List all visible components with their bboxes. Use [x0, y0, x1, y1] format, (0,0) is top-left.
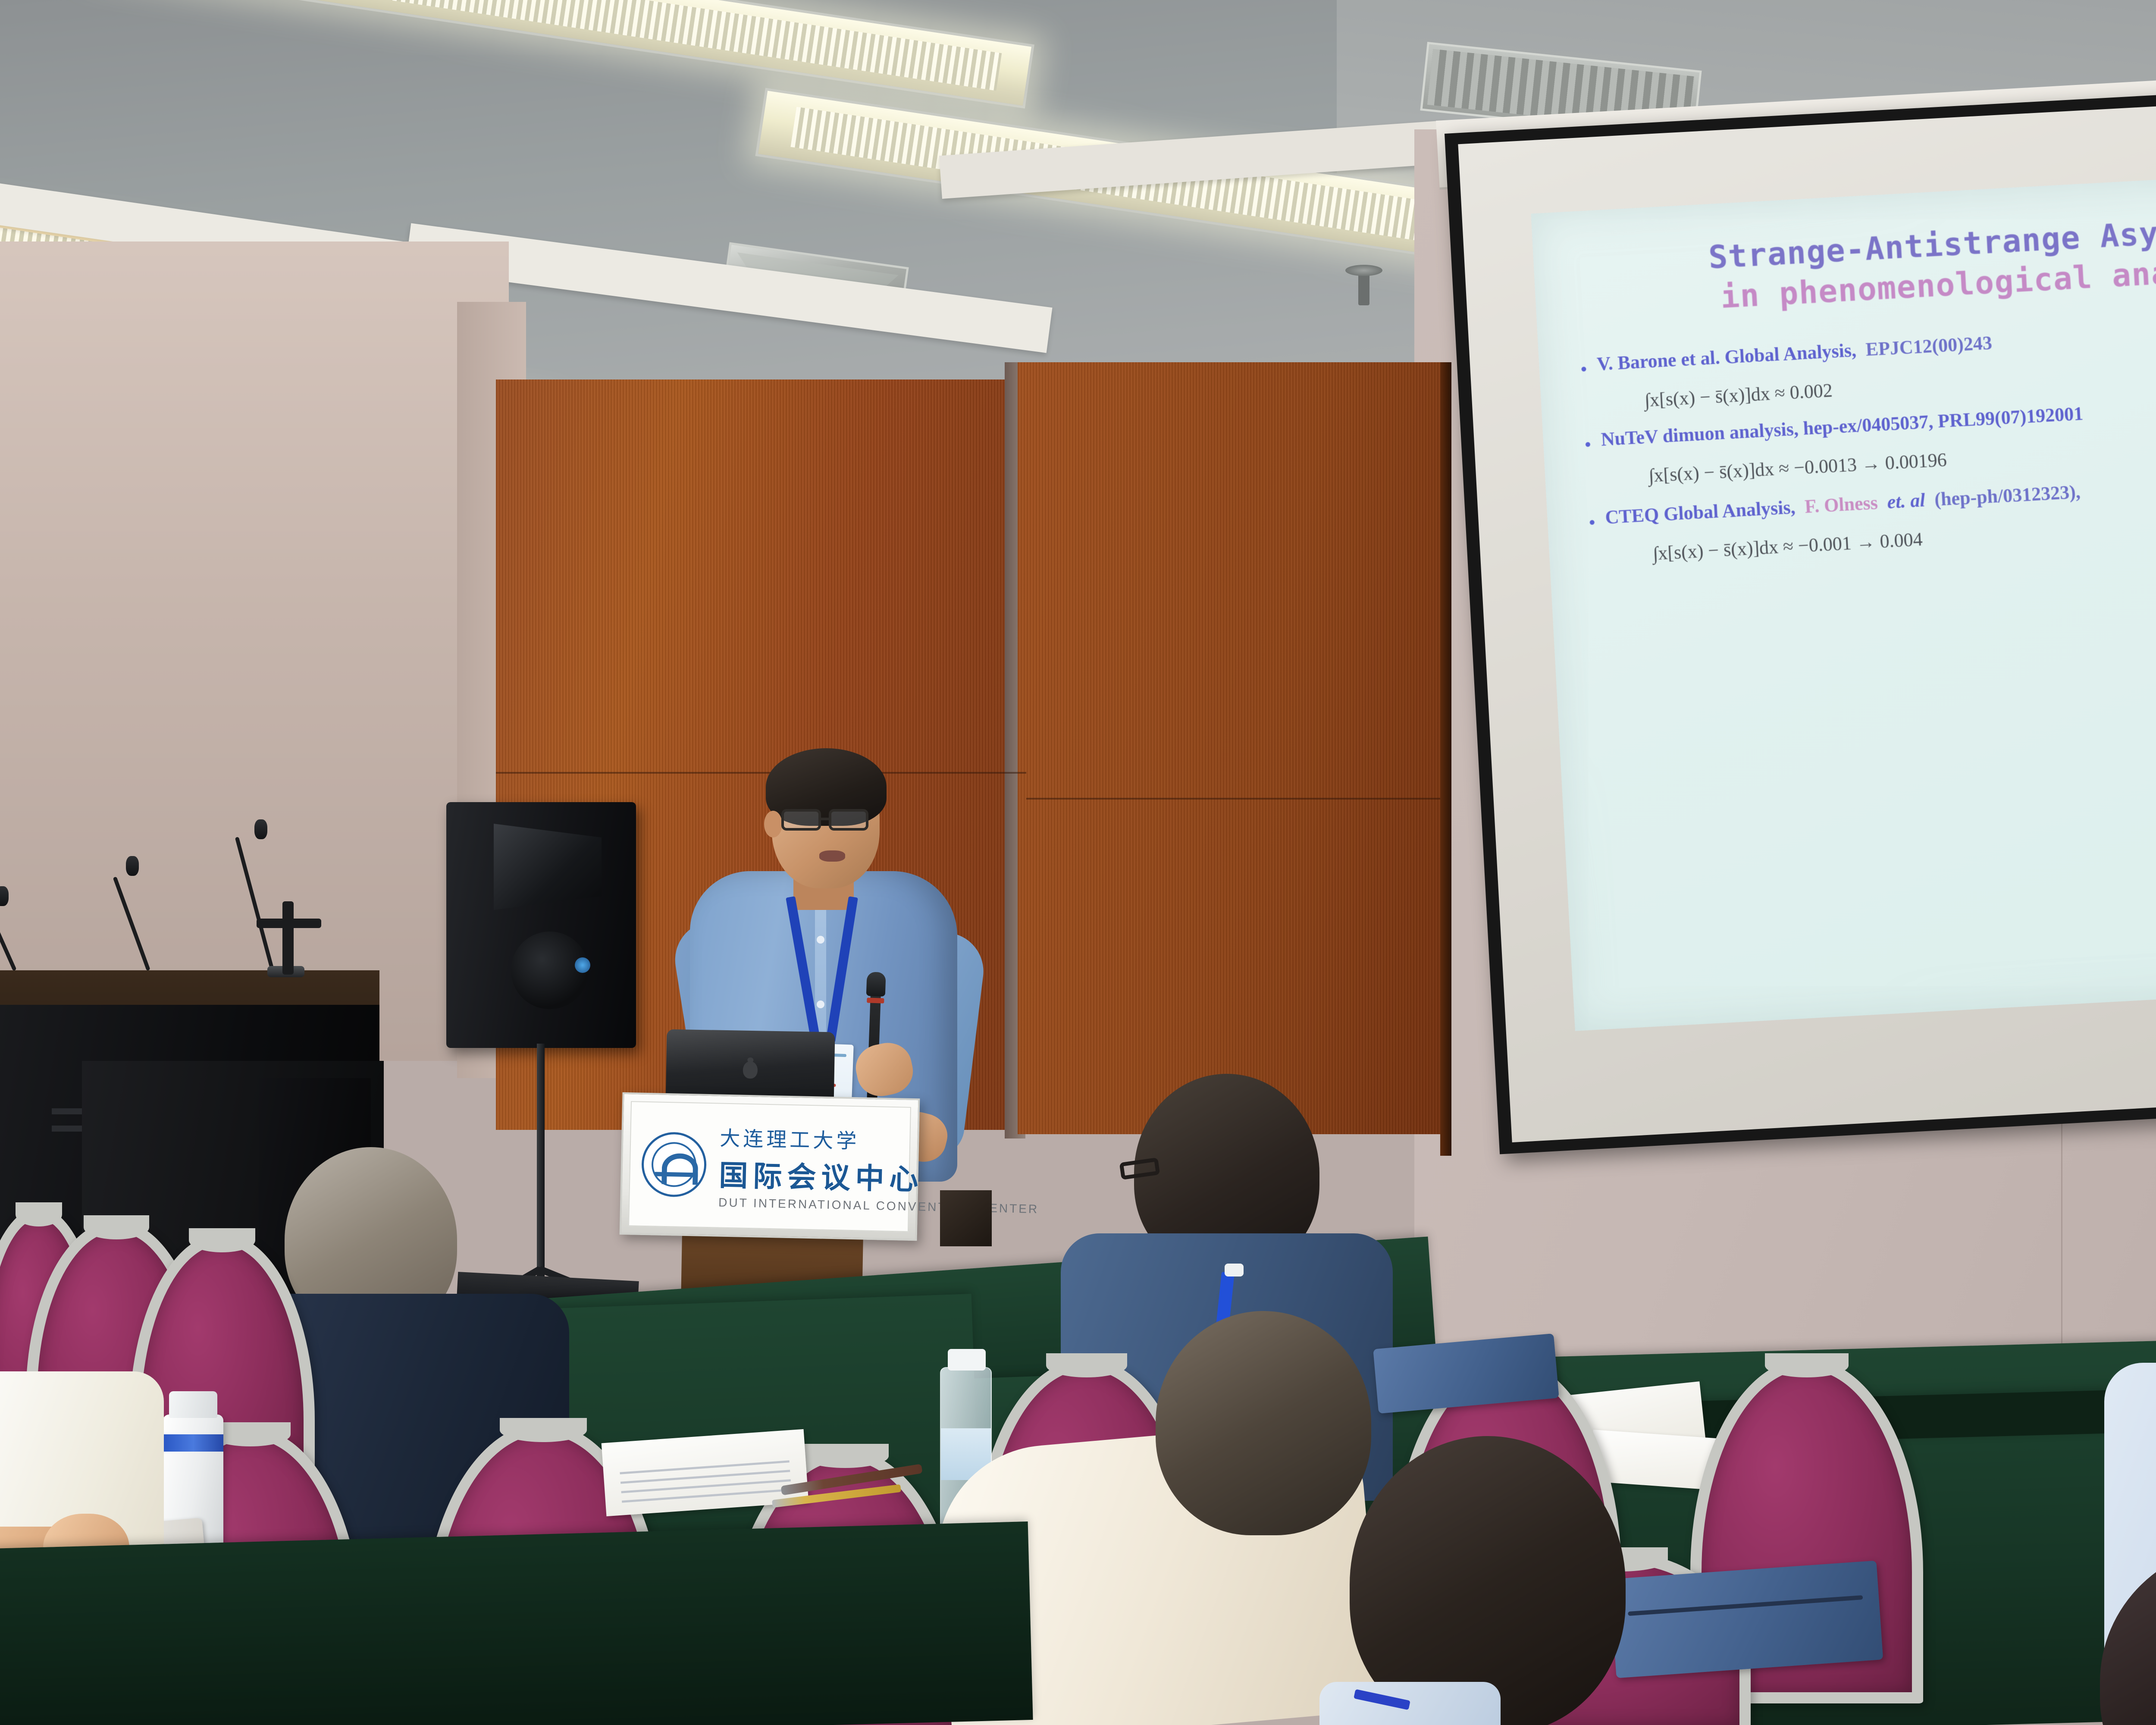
- shirt-button: [817, 1000, 824, 1008]
- bullet-marker-icon: •: [1589, 514, 1595, 531]
- speaker-tripod-pole: [537, 1044, 545, 1285]
- dut-seal-icon: [641, 1132, 707, 1198]
- presentation-slide: Strange-Antistrange Asymmetry in phenome…: [1531, 164, 2156, 1031]
- bullet-marker-icon: •: [1584, 436, 1591, 454]
- bottle-cap: [169, 1391, 217, 1418]
- attendee-shoulder: [1319, 1682, 1501, 1725]
- dut-seal-bar: [655, 1172, 696, 1177]
- slide-bullet-list: • V. Barone et al. Global Analysis, EPJC…: [1569, 308, 2156, 568]
- bullet-reference: EPJC12(00)243: [1865, 332, 1993, 360]
- microphone-capsule: [0, 886, 9, 906]
- eyeglasses-lens-left: [781, 809, 821, 831]
- wood-panel-seam: [1026, 798, 1449, 800]
- conference-room-photo: ✶Redleaf Strange-Antistrange Asymmetry i…: [0, 0, 2156, 1725]
- sprinkler-head-icon: [1358, 272, 1369, 305]
- podium-sign-face: 大连理工大学 国际会议中心 DUT INTERNATIONAL CONVENTI…: [628, 1101, 911, 1232]
- back-wall: [0, 241, 509, 1061]
- bag-zipper: [1628, 1595, 1863, 1616]
- blue-conference-bag: [1610, 1561, 1883, 1678]
- microphone-stand-arm: [257, 919, 321, 928]
- presenter-ear: [764, 811, 782, 837]
- microphone-capsule: [126, 856, 139, 876]
- bullet-author: F. Olness: [1804, 492, 1878, 517]
- badge-clip: [1225, 1264, 1244, 1276]
- attendee-head: [1156, 1311, 1371, 1535]
- podium-university-name: 大连理工大学: [720, 1122, 1040, 1158]
- bullet-text: V. Barone et al. Global Analysis, EPJC12…: [1596, 332, 1993, 376]
- microphone-stand-post: [282, 901, 294, 975]
- bullet-marker-icon: •: [1580, 361, 1587, 378]
- podium-sign-text: 大连理工大学 国际会议中心 DUT INTERNATIONAL CONVENTI…: [718, 1122, 1040, 1217]
- wood-panel-seam: [496, 772, 1026, 774]
- picture-frame-on-table: [940, 1190, 992, 1246]
- eyeglasses-bridge: [819, 818, 830, 820]
- bullet-reference: (hep-ph/0312323),: [1934, 481, 2081, 510]
- bottle-cap: [948, 1349, 986, 1371]
- screen-surface: Strange-Antistrange Asymmetry in phenome…: [1458, 87, 2156, 1142]
- wood-wall-panel: [1018, 362, 1449, 1134]
- foreground-table: [0, 1521, 1033, 1725]
- projection-screen: Strange-Antistrange Asymmetry in phenome…: [1445, 75, 2156, 1154]
- speaker-power-led-icon: [575, 957, 590, 973]
- slide-title: Strange-Antistrange Asymmetry in phenome…: [1563, 199, 2156, 326]
- pa-speaker: [446, 802, 636, 1048]
- wood-panel-edge: [1440, 362, 1451, 1156]
- shirt-button: [817, 936, 824, 944]
- bullet-lead-text: V. Barone et al. Global Analysis,: [1596, 339, 1857, 374]
- bullet-text: CTEQ Global Analysis, F. Olness et. al (…: [1604, 480, 2081, 529]
- apple-logo-icon: [743, 1061, 758, 1079]
- eyeglasses-lens-right: [829, 809, 868, 831]
- speaker-horn: [494, 824, 602, 910]
- bottle-band: [163, 1434, 223, 1452]
- bullet-lead-text: CTEQ Global Analysis,: [1604, 496, 1796, 528]
- podium-sign: 大连理工大学 国际会议中心 DUT INTERNATIONAL CONVENTI…: [620, 1092, 920, 1241]
- bullet-author-suffix: et. al: [1887, 489, 1926, 513]
- microphone-capsule: [254, 819, 267, 839]
- presenter-mouth: [819, 850, 845, 862]
